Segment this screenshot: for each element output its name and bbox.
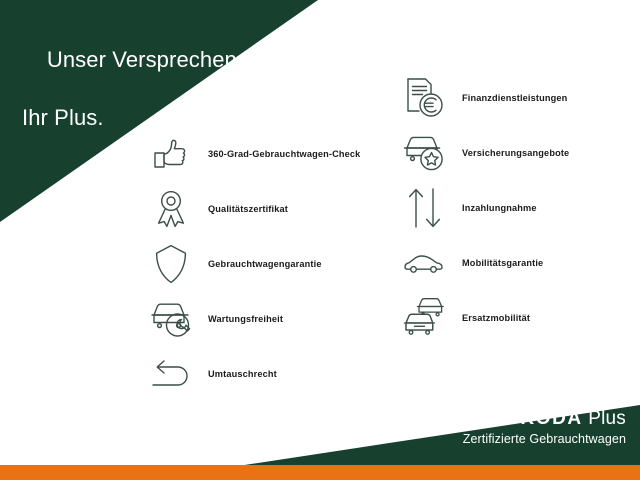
thumbs-up-icon xyxy=(146,131,196,177)
feature-item: Ersatzmobilität xyxy=(400,290,569,345)
feature-list-left: 360-Grad-Gebrauchtwagen-Check Qualitätsz… xyxy=(146,126,360,401)
promo-banner: Unser Versprechen. Ihr Plus. 360-Grad-Ge… xyxy=(0,0,640,480)
skoda-wordmark: ŠKODA xyxy=(506,408,583,429)
headline-line-1: Unser Versprechen. xyxy=(47,47,243,72)
feature-item: Wartungsfreiheit xyxy=(146,291,360,346)
feature-item: Umtauschrecht xyxy=(146,346,360,401)
feature-label: Finanzdienstleistungen xyxy=(462,93,567,103)
feature-item: Gebrauchtwagengarantie xyxy=(146,236,360,291)
brand-lockup: ŠKODA Plus Zertifizierte Gebrauchtwagen xyxy=(463,408,626,447)
feature-label: 360-Grad-Gebrauchtwagen-Check xyxy=(208,149,360,159)
shield-icon xyxy=(146,241,196,287)
up-down-arrows-icon xyxy=(400,185,450,231)
feature-label: Mobilitätsgarantie xyxy=(462,258,543,268)
car-star-icon xyxy=(400,130,450,176)
brand-tagline: Zertifizierte Gebrauchtwagen xyxy=(463,431,626,447)
two-cars-icon xyxy=(400,295,450,341)
feature-label: Gebrauchtwagengarantie xyxy=(208,259,322,269)
feature-list-right: Finanzdienstleistungen Versicherungsange… xyxy=(400,70,569,345)
document-euro-icon xyxy=(400,75,450,121)
feature-item: Mobilitätsgarantie xyxy=(400,235,569,290)
feature-item: Finanzdienstleistungen xyxy=(400,70,569,125)
brand-name-row: ŠKODA Plus xyxy=(463,408,626,430)
feature-item: Inzahlungnahme xyxy=(400,180,569,235)
feature-label: Versicherungsangebote xyxy=(462,148,569,158)
orange-bottom-bar xyxy=(0,465,640,480)
feature-item: Versicherungsangebote xyxy=(400,125,569,180)
feature-label: Inzahlungnahme xyxy=(462,203,537,213)
plus-wordmark: Plus xyxy=(583,408,626,429)
feature-item: Qualitätszertifikat xyxy=(146,181,360,236)
award-rosette-icon xyxy=(146,186,196,232)
car-wrench-icon xyxy=(146,296,196,342)
return-arrow-icon xyxy=(146,351,196,397)
feature-label: Qualitätszertifikat xyxy=(208,204,288,214)
feature-item: 360-Grad-Gebrauchtwagen-Check xyxy=(146,126,360,181)
feature-label: Wartungsfreiheit xyxy=(208,314,283,324)
feature-label: Umtauschrecht xyxy=(208,369,277,379)
feature-label: Ersatzmobilität xyxy=(462,313,530,323)
car-side-icon xyxy=(400,240,450,286)
